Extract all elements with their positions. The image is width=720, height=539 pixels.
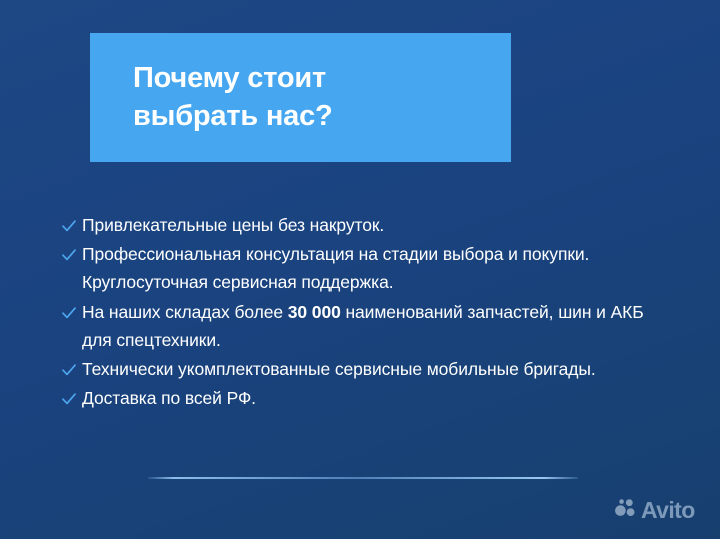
title-banner: Почему стоит выбрать нас? bbox=[90, 33, 511, 162]
list-item: Привлекательные цены без накруток. bbox=[62, 211, 672, 239]
list-item-label: На наших складах более 30 000 наименован… bbox=[82, 298, 672, 354]
benefits-list: Привлекательные цены без накруток. Профе… bbox=[62, 211, 672, 413]
avito-dots-icon bbox=[614, 497, 636, 524]
check-icon bbox=[62, 211, 82, 239]
avito-watermark: Avito bbox=[614, 497, 695, 524]
divider bbox=[148, 477, 578, 479]
avito-wordmark: Avito bbox=[641, 499, 695, 522]
check-icon bbox=[62, 298, 82, 326]
check-icon bbox=[62, 240, 82, 268]
list-item: Доставка по всей РФ. bbox=[62, 384, 672, 412]
list-item-label: Доставка по всей РФ. bbox=[82, 384, 672, 412]
list-item-text: Технически укомплектованные сервисные мо… bbox=[82, 359, 596, 379]
list-item-label: Профессиональная консультация на стадии … bbox=[82, 240, 672, 296]
list-item-text: На наших складах более bbox=[82, 302, 288, 322]
page-title-line-1: Почему стоит bbox=[133, 60, 511, 97]
list-item-text: Привлекательные цены без накруток. bbox=[82, 215, 384, 235]
list-item-text: Профессиональная консультация на стадии … bbox=[82, 244, 589, 292]
check-icon bbox=[62, 384, 82, 412]
list-item: Технически укомплектованные сервисные мо… bbox=[62, 355, 672, 383]
slide-canvas: Почему стоит выбрать нас? Привлекательны… bbox=[0, 0, 720, 539]
list-item-text: Доставка по всей РФ. bbox=[82, 388, 256, 408]
list-item-emphasis: 30 000 bbox=[288, 302, 341, 322]
list-item: На наших складах более 30 000 наименован… bbox=[62, 298, 672, 354]
list-item-label: Привлекательные цены без накруток. bbox=[82, 211, 672, 239]
list-item-label: Технически укомплектованные сервисные мо… bbox=[82, 355, 672, 383]
page-title-line-2: выбрать нас? bbox=[133, 98, 511, 135]
list-item: Профессиональная консультация на стадии … bbox=[62, 240, 672, 296]
check-icon bbox=[62, 355, 82, 383]
